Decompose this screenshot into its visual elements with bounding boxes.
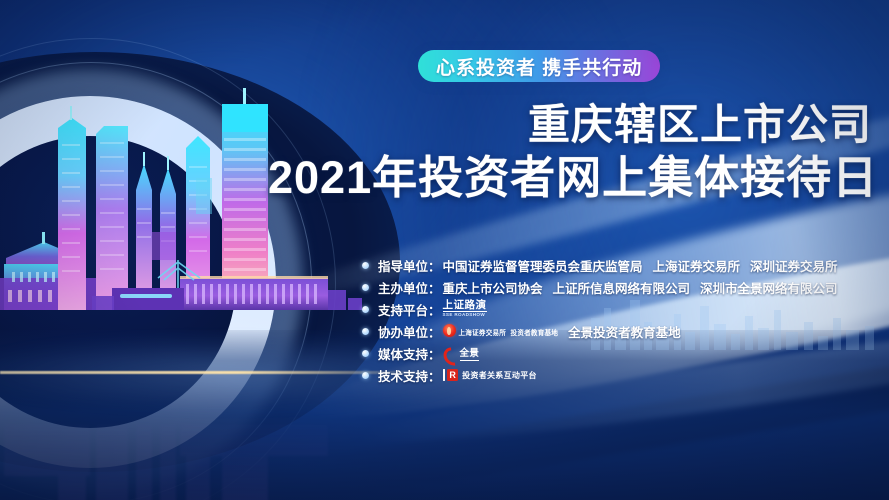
promo-banner: 心系投资者 携手共行动 重庆辖区上市公司 2021年投资者网上集体接待日 指导单…	[0, 0, 889, 500]
vignette-overlay	[0, 0, 889, 500]
